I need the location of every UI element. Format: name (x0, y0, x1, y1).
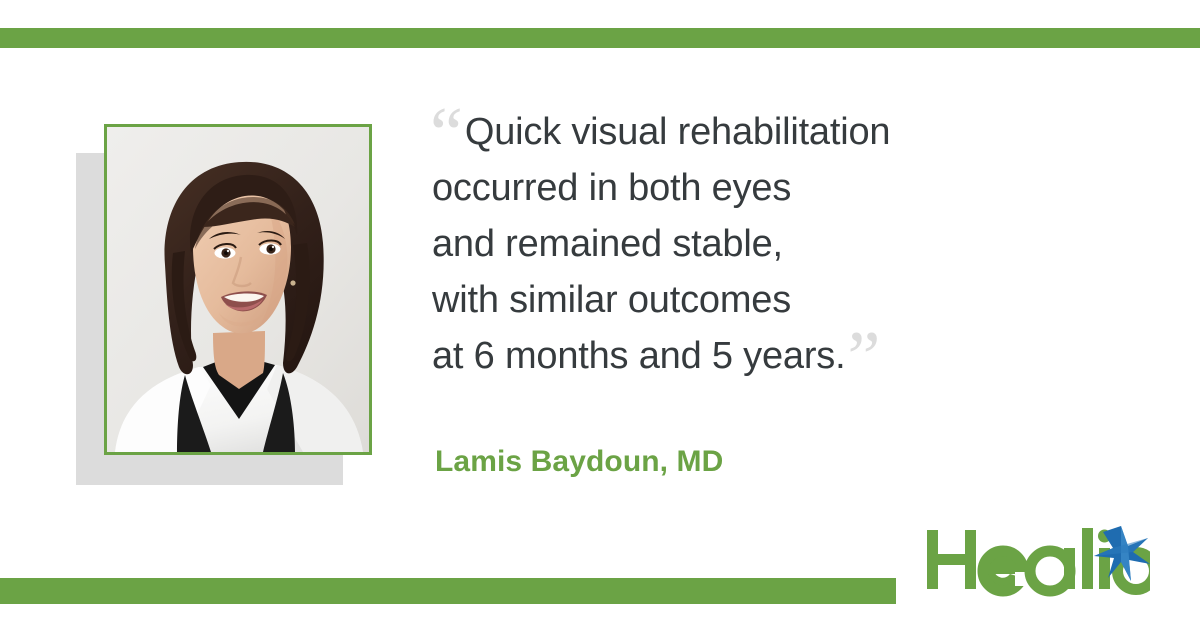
quote-line-1-text: Quick visual rehabilitation (465, 111, 890, 153)
attribution-name: Lamis Baydoun, MD (435, 445, 723, 479)
quote-card: “Quick visual rehabilitation occurred in… (0, 0, 1200, 630)
quote-block: “Quick visual rehabilitation occurred in… (432, 104, 1132, 384)
portrait-photo (107, 127, 369, 452)
portrait-frame (104, 124, 372, 455)
quote-line-1: “Quick visual rehabilitation (432, 104, 1132, 160)
bottom-accent-bar (0, 578, 896, 604)
quote-line-5-text: at 6 months and 5 years. (432, 335, 845, 377)
close-quote-mark: ” (847, 317, 878, 399)
quote-line-5: at 6 months and 5 years.” (432, 328, 1132, 384)
portrait-container (76, 124, 376, 489)
top-accent-bar (0, 28, 1200, 48)
quote-line-4: with similar outcomes (432, 272, 1132, 328)
quote-line-3: and remained stable, (432, 216, 1132, 272)
quote-line-2: occurred in both eyes (432, 160, 1132, 216)
healio-logo (925, 524, 1150, 600)
open-quote-mark: “ (430, 93, 461, 175)
